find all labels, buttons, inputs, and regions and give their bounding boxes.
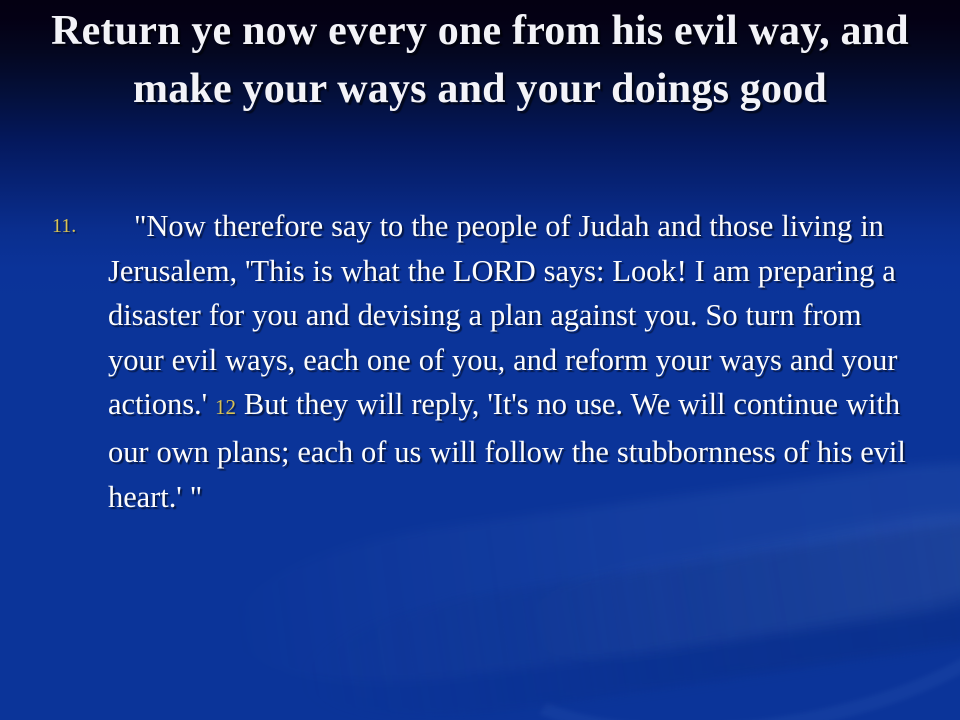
list-item-number: 11.	[52, 204, 108, 236]
presentation-slide: Return ye now every one from his evil wa…	[0, 0, 960, 720]
verse-number-inline: 12	[215, 395, 236, 419]
scripture-paragraph: "Now therefore say to the people of Juda…	[108, 204, 908, 519]
swirl-band-dark-decoration	[291, 496, 960, 720]
slide-body: 11. "Now therefore say to the people of …	[52, 204, 908, 519]
swirl-sheen-decoration	[512, 496, 960, 675]
slide-title: Return ye now every one from his evil wa…	[48, 2, 912, 118]
